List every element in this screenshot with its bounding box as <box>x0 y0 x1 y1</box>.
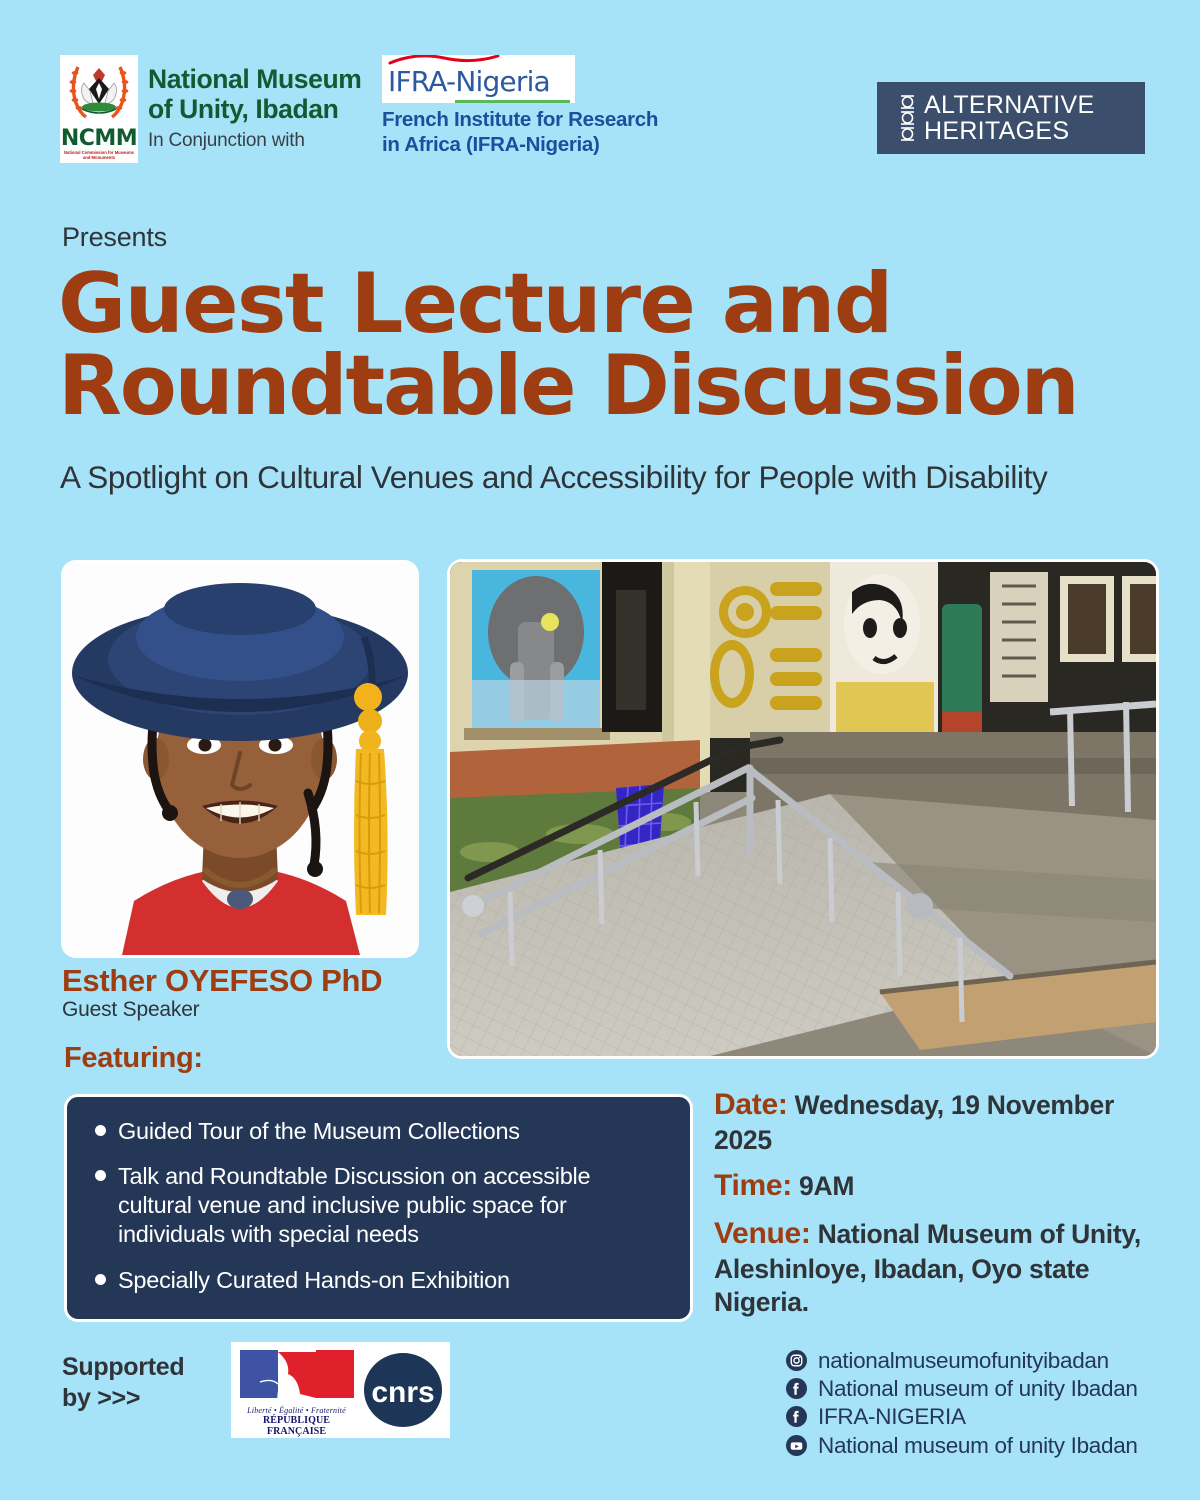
list-item: Specially Curated Hands-on Exhibition <box>87 1266 668 1295</box>
ifra-branding: IFRA-Nigeria French Institute for Resear… <box>382 55 658 157</box>
ifra-caption-line1: French Institute for Research <box>382 108 658 133</box>
ifra-green-rule <box>455 100 570 103</box>
ifra-logo: IFRA-Nigeria <box>382 55 575 103</box>
facebook-icon[interactable] <box>786 1406 807 1427</box>
social-row-youtube[interactable]: National museum of unity Ibadan <box>786 1433 1138 1458</box>
list-item: Guided Tour of the Museum Collections <box>87 1117 668 1146</box>
instagram-icon[interactable] <box>786 1350 807 1371</box>
marianne-motto: Liberté • Égalité • Fraternité <box>238 1406 356 1415</box>
social-handle-text: nationalmuseumofunityibadan <box>818 1348 1109 1373</box>
supported-line1: Supported <box>62 1352 184 1383</box>
time-value: 9AM <box>799 1171 854 1201</box>
alternative-heritages-symbol-icon <box>899 94 916 142</box>
page-subtitle: A Spotlight on Cultural Venues and Acces… <box>60 458 1060 497</box>
featuring-list: Guided Tour of the Museum Collections Ta… <box>64 1094 693 1322</box>
social-handle-text: IFRA-NIGERIA <box>818 1404 966 1429</box>
list-item: Talk and Roundtable Discussion on access… <box>87 1162 668 1249</box>
republique-francaise-logo: Liberté • Égalité • Fraternité RÉPUBLIQU… <box>238 1348 356 1432</box>
event-date: Date: Wednesday, 19 November 2025 <box>714 1086 1164 1157</box>
title-line1: Guest Lecture and <box>58 263 1168 345</box>
title-line2: Roundtable Discussion <box>58 345 1168 427</box>
museum-name-line1: National Museum <box>148 65 361 95</box>
speaker-role: Guest Speaker <box>62 998 199 1022</box>
facebook-icon[interactable] <box>786 1378 807 1399</box>
featuring-heading: Featuring: <box>64 1042 203 1075</box>
cnrs-logo: cnrs <box>362 1349 444 1431</box>
alternative-heritages-logo: ALTERNATIVE HERITAGES <box>877 82 1145 154</box>
accessibility-ramp-photo <box>450 562 1156 1056</box>
speaker-name: Esther OYEFESO PhD <box>62 963 382 999</box>
social-handle-text: National museum of unity Ibadan <box>818 1376 1138 1401</box>
nigeria-coat-of-arms-icon <box>66 59 132 121</box>
marianne-flag-icon <box>238 1348 356 1400</box>
ncmm-branding: NCMM National Commission for Museums and… <box>60 55 361 163</box>
conjunction-text: In Conjunction with <box>148 130 361 152</box>
ncmm-expansion: National Commission for Museums and Monu… <box>60 150 138 160</box>
youtube-icon[interactable] <box>786 1435 807 1456</box>
alt-heritages-line2: HERITAGES <box>924 118 1094 145</box>
museum-name-block: National Museum of Unity, Ibadan In Conj… <box>148 55 361 152</box>
speaker-portrait <box>64 563 416 955</box>
alternative-heritages-text: ALTERNATIVE HERITAGES <box>924 92 1094 145</box>
ifra-caption-line2: in Africa (IFRA-Nigeria) <box>382 133 658 158</box>
speaker-photo-illustration <box>64 563 416 955</box>
time-label: Time: <box>714 1169 792 1202</box>
ncmm-logo: NCMM National Commission for Museums and… <box>60 55 138 163</box>
supporter-logos: Liberté • Égalité • Fraternité RÉPUBLIQU… <box>231 1342 450 1438</box>
bullet-icon <box>95 1125 106 1136</box>
venue-label: Venue: <box>714 1217 811 1250</box>
event-details: Date: Wednesday, 19 November 2025 Time: … <box>714 1086 1164 1330</box>
poster-header: NCMM National Commission for Museums and… <box>60 55 1145 175</box>
bullet-icon <box>95 1170 106 1181</box>
social-row-facebook-ifra[interactable]: IFRA-NIGERIA <box>786 1404 1138 1429</box>
event-venue: Venue: National Museum of Unity, Aleshin… <box>714 1215 1164 1320</box>
alt-heritages-line1: ALTERNATIVE <box>924 92 1094 119</box>
museum-name-line2: of Unity, Ibadan <box>148 95 361 125</box>
cnrs-wordmark: cnrs <box>371 1376 434 1409</box>
list-item-label: Guided Tour of the Museum Collections <box>118 1117 520 1146</box>
supported-line2: by >>> <box>62 1383 184 1414</box>
event-time: Time: 9AM <box>714 1167 1164 1205</box>
ncmm-acronym: NCMM <box>60 126 138 151</box>
marianne-republic: RÉPUBLIQUE FRANÇAISE <box>238 1415 356 1437</box>
supported-by-label: Supported by >>> <box>62 1352 184 1413</box>
social-row-facebook-museum[interactable]: National museum of unity Ibadan <box>786 1376 1138 1401</box>
social-row-instagram[interactable]: nationalmuseumofunityibadan <box>786 1348 1138 1373</box>
list-item-label: Talk and Roundtable Discussion on access… <box>118 1162 668 1249</box>
page-title: Guest Lecture and Roundtable Discussion <box>58 263 1168 427</box>
social-handles: nationalmuseumofunityibadan National mus… <box>786 1348 1138 1461</box>
ramp-photo-illustration <box>450 562 1156 1056</box>
list-item-label: Specially Curated Hands-on Exhibition <box>118 1266 510 1295</box>
ifra-logo-text: IFRA-Nigeria <box>388 65 550 98</box>
bullet-icon <box>95 1274 106 1285</box>
presents-label: Presents <box>62 222 167 253</box>
social-handle-text: National museum of unity Ibadan <box>818 1433 1138 1458</box>
date-label: Date: <box>714 1088 788 1121</box>
